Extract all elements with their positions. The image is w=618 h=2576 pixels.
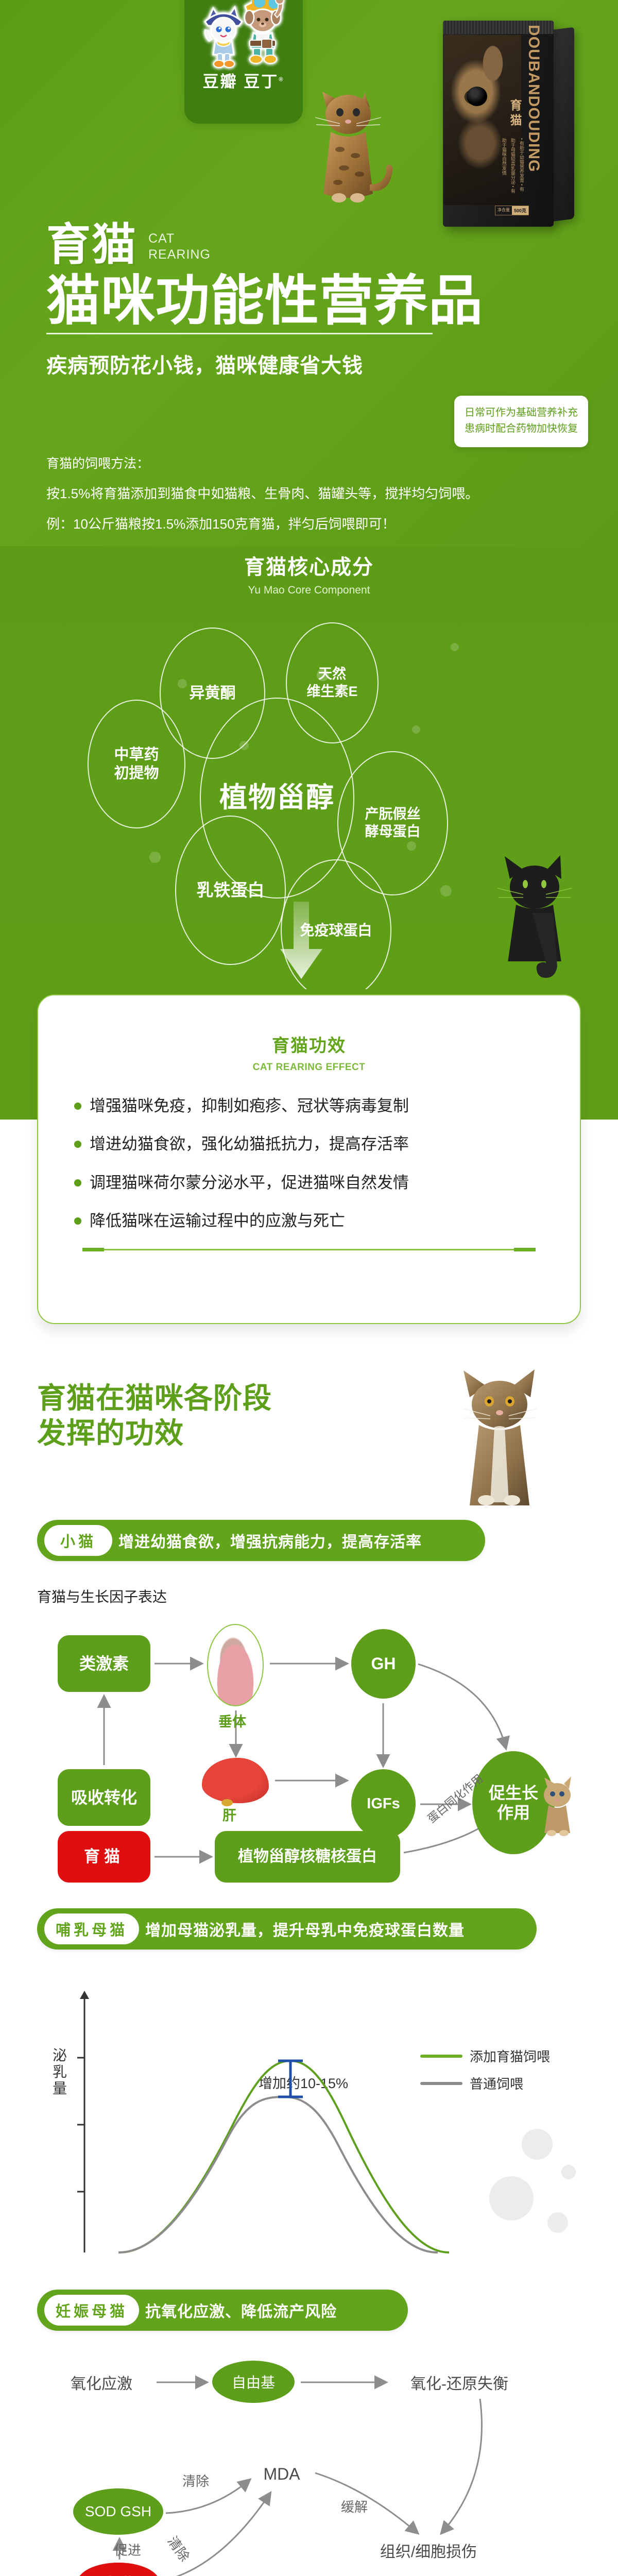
stage-pill-pregnant: 妊娠母猫 抗氧化应激、降低流产风险 (37, 2290, 408, 2331)
hero-divider (46, 333, 433, 334)
stages-section: 育猫在猫咪各阶段 发挥的功效 (0, 1226, 618, 2576)
list-item: 增强猫咪免疫，抑制如疱疹、冠状等病毒复制 (74, 1096, 544, 1116)
stages-title-line1: 育猫在猫咪各阶段 (37, 1382, 272, 1414)
node-sterol-protein: 植物甾醇核糖核蛋白 (215, 1831, 400, 1883)
growth-factor-flow-diagram: 类激素 垂体 GH IGFs 促生长 作用 吸收转化 育猫 植物甾醇核糖核蛋白 … (37, 1620, 581, 1862)
effect-item-text: 增进幼猫食欲，强化幼猫抵抗力，提高存活率 (90, 1134, 409, 1155)
node-gh: GH (351, 1629, 416, 1699)
decor-dot (440, 885, 452, 896)
infographic-page: 豆瓣 豆丁® DOUBANDOUDING 育猫 • 有助于幼猫营养发育 • 有助… (0, 0, 618, 2576)
decor-dot (412, 725, 420, 734)
list-item: 增进幼猫食欲，强化幼猫抵抗力，提高存活率 (74, 1134, 544, 1155)
stage-text-pregnant: 抗氧化应激、降低流产风险 (145, 2299, 337, 2321)
feeding-line-1: 按1.5%将育猫添加到猫食中如猫粮、生骨肉、猫罐头等，搅拌均匀饲喂。 (46, 483, 500, 502)
bubble-herbal-extract: 中草药 初提物 (88, 700, 185, 828)
feeding-line-2: 例：10公斤猫粮按1.5%添加150克育猫，拌匀后饲喂即可！ (46, 514, 500, 533)
kitten-photo (534, 1774, 580, 1836)
bag-front: DOUBANDOUDING 育猫 • 有助于幼猫营养发育 • 有助于母猫较高乳量… (443, 21, 554, 227)
hero-section: 豆瓣 豆丁® DOUBANDOUDING 育猫 • 有助于幼猫营养发育 • 有助… (0, 0, 618, 546)
bag-weight-value: 500克 (512, 206, 528, 215)
node-hormone: 类激素 (58, 1635, 150, 1692)
feeding-heading: 育猫的饲喂方法： (46, 453, 500, 472)
bullet-dot-icon (74, 1103, 81, 1110)
hero-title-cn: 育猫 (46, 224, 137, 266)
core-title-en: Yu Mao Core Component (0, 584, 618, 597)
bag-weight-label: 净含量 (495, 206, 512, 215)
effect-card: 育猫功效 CAT REARING EFFECT 增强猫咪免疫，抑制如疱疹、冠状等… (37, 994, 581, 1324)
bag-weight: 净含量 500克 (495, 206, 529, 215)
oxidative-stress-diagram: 氧化应激 自由基 氧化-还原失衡 MDA SOD GSH 育猫 组织/细胞损伤 … (37, 2359, 581, 2576)
down-arrow-icon (278, 902, 324, 979)
node-sod-gsh: SOD GSH (73, 2488, 163, 2535)
bag-brand-en: DOUBANDOUDING (525, 25, 542, 172)
label-pituitary: 垂体 (218, 1710, 246, 1731)
bubble-lactoferrin: 乳铁蛋白 (175, 816, 286, 965)
node-redox-imbalance: 氧化-还原失衡 (392, 2370, 526, 2395)
brand-name: 豆瓣 豆丁 (203, 73, 279, 91)
label-liver: 肝 (222, 1804, 236, 1824)
list-item: 降低猫咪在运输过程中的应激与死亡 (74, 1211, 544, 1231)
bullet-dot-icon (74, 1141, 81, 1148)
node-mda: MDA (253, 2462, 310, 2486)
hero-headline: 猫咪功能性营养品 (46, 274, 438, 329)
usage-note-line2: 患病时配合药物加快恢复 (462, 421, 580, 437)
decor-dot (451, 643, 459, 651)
effect-item-text: 调理猫咪荷尔蒙分泌水平，促进猫咪自然发情 (90, 1173, 409, 1193)
feeding-instructions: 育猫的饲喂方法： 按1.5%将育猫添加到猫食中如猫粮、生骨肉、猫罐头等，搅拌均匀… (46, 453, 500, 544)
node-tissue-damage: 组织/细胞损伤 (367, 2538, 490, 2563)
lactation-chart: 泌乳量 增加约10-15% 添加育猫饲喂 普通饲喂 (37, 1970, 581, 2259)
stages-heading: 育猫在猫咪各阶段 发挥的功效 (0, 1381, 618, 1520)
hero-title: 育猫 CAT REARING 猫咪功能性营养品 疾病预防花小钱，猫咪健康省大钱 (46, 224, 438, 379)
effect-title-cn: 育猫功效 (74, 1031, 544, 1057)
edge-label-ease: 缓解 (341, 2497, 368, 2516)
hero-title-en: CAT REARING (148, 231, 211, 266)
brand-logo-card: 豆瓣 豆丁® (184, 0, 303, 124)
node-free-radical: 自由基 (212, 2361, 295, 2403)
node-yumao-product: 育猫 (58, 1831, 150, 1883)
node-absorb: 吸收转化 (58, 1769, 150, 1826)
bengal-cat-photo (304, 88, 402, 216)
core-heading: 育猫核心成分 Yu Mao Core Component (0, 546, 618, 597)
bullet-dot-icon (74, 1217, 81, 1225)
maine-coon-cat-photo (443, 1367, 556, 1506)
pituitary-illustration (207, 1624, 264, 1706)
effect-title-en: CAT REARING EFFECT (74, 1062, 544, 1073)
stage-text-kitten: 增进幼猫食欲，增强抗病能力，提高存活率 (118, 1529, 422, 1552)
usage-note-card: 日常可作为基础营养补充 患病时配合药物加快恢复 (454, 396, 588, 447)
bag-cat-eye (467, 87, 487, 106)
hero-subtitle: 疾病预防花小钱，猫咪健康省大钱 (46, 349, 438, 379)
effect-section: 育猫功效 CAT REARING EFFECT 增强猫咪免疫，抑制如疱疹、冠状等… (0, 989, 618, 1226)
effect-item-text: 降低猫咪在运输过程中的应激与死亡 (90, 1211, 345, 1231)
effect-list: 增强猫咪免疫，抑制如疱疹、冠状等病毒复制 增进幼猫食欲，强化幼猫抵抗力，提高存活… (74, 1096, 544, 1231)
edge-label-promote: 促进 (114, 2540, 141, 2559)
dog-mascot-icon (236, 0, 290, 65)
hero-title-en-line1: CAT (148, 231, 211, 247)
kitten-subtitle: 育猫与生长因子表达 (37, 1586, 618, 1606)
decor-dot (149, 852, 161, 863)
effect-heading: 育猫功效 CAT REARING EFFECT (74, 1031, 544, 1073)
stage-badge-pregnant: 妊娠母猫 (44, 2295, 139, 2326)
stage-pill-lactating: 哺乳母猫 增加母猫泌乳量，提升母乳中免疫球蛋白数量 (37, 1908, 537, 1950)
edge-label-clear-1: 清除 (182, 2471, 209, 2490)
stage-pill-kitten: 小猫 增进幼猫食欲，增强抗病能力，提高存活率 (37, 1520, 485, 1561)
bullet-dot-icon (74, 1179, 81, 1187)
stages-title-line2: 发挥的功效 (37, 1417, 184, 1449)
product-bag: DOUBANDOUDING 育猫 • 有助于幼猫营养发育 • 有助于母猫较高乳量… (422, 21, 587, 242)
core-title-cn: 育猫核心成分 (0, 550, 618, 580)
stage-badge-kitten: 小猫 (44, 1525, 112, 1556)
ingredient-bubbles: 异黄酮 天然 维生素E 中草药 初提物 植物甾醇 产朊假丝 酵母蛋白 乳铁蛋白 … (0, 597, 618, 957)
node-igfs: IGFs (351, 1769, 416, 1839)
list-item: 调理猫咪荷尔蒙分泌水平，促进猫咪自然发情 (74, 1173, 544, 1193)
stage-text-lactating: 增加母猫泌乳量，提升母乳中免疫球蛋白数量 (145, 1918, 465, 1940)
brand-logo-text: 豆瓣 豆丁® (184, 69, 303, 92)
card-divider (82, 1249, 536, 1250)
node-oxidative-stress: 氧化应激 (53, 2370, 150, 2395)
effect-item-text: 增强猫咪免疫，抑制如疱疹、冠状等病毒复制 (90, 1096, 409, 1116)
bag-bullets: • 有助于幼猫营养发育 • 有助于母猫较高乳量分泌 • 有助于猫咪自然发情 (500, 138, 526, 195)
usage-note-line1: 日常可作为基础营养补充 (462, 405, 580, 421)
stage-badge-lactating: 哺乳母猫 (44, 1913, 139, 1944)
cat-tail-silhouette-icon (510, 913, 572, 1001)
registered-mark: ® (279, 77, 284, 83)
bag-brand-cn: 育猫 (506, 99, 524, 129)
hero-title-en-line2: REARING (148, 247, 211, 263)
lactation-curves (37, 1970, 581, 2259)
